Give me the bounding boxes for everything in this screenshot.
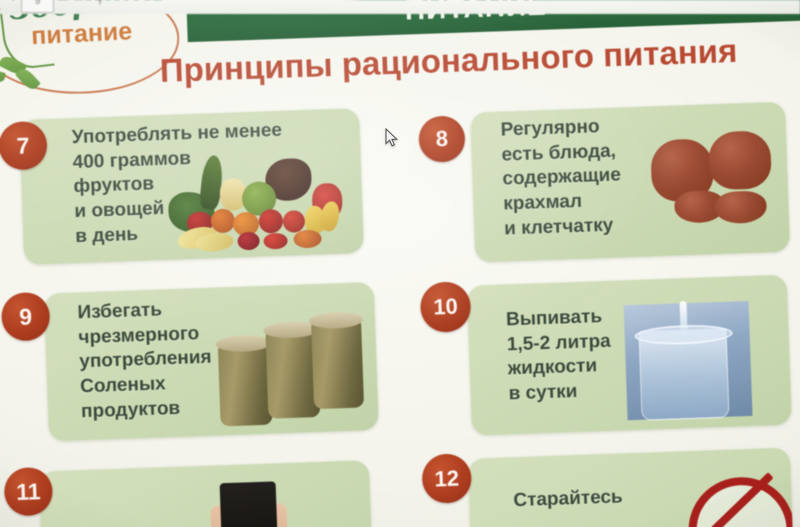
page-total-label: из 32 [60,0,84,3]
projection-screen: ПИТАНИЕ Здоровое питание Принципы рацион… [0,0,800,527]
logo-word-pitanie: питание [31,17,133,51]
card-badge-10: 10 [420,281,472,333]
card-text-8: Регулярно есть блюда, содержащие крахмал… [500,114,623,241]
principle-card-12: Старайтесь [468,448,794,527]
presentation-slide: ПИТАНИЕ Здоровое питание Принципы рацион… [0,0,800,527]
principle-card-9: Избегать чрезмерного употребления Солены… [44,282,379,441]
card-badge-8: 8 [418,115,466,163]
principle-card-7: Употреблять не менее 400 граммов фруктов… [19,108,364,265]
pickle-jars-photo [213,305,369,428]
bread-rolls-photo [646,128,786,249]
card-text-7: Употреблять не менее 400 граммов фруктов… [71,119,285,250]
principle-card-10: Выпивать 1,5-2 литра жидкости в сутки [467,275,792,436]
glass-of-water-photo [624,301,753,420]
search-icon[interactable]: ⚲ [96,0,108,5]
viewer-toolbar: 9 из 32 ⚲ [0,0,800,14]
card-text-10: Выпивать 1,5-2 литра жидкости в сутки [506,305,613,407]
page-title: Принципы рационального питания [159,32,738,90]
prohibition-sign-photo [664,466,793,527]
arrow-cursor [385,128,399,148]
card-badge-9: 9 [1,292,51,342]
person-on-scales-photo [191,460,307,527]
card-text-12: Старайтесь [513,485,623,513]
page-number-input[interactable]: 9 [21,0,54,13]
card-text-9: Избегать чрезмерного употребления Солены… [77,297,214,425]
principle-card-8: Регулярно есть блюда, содержащие крахмал… [470,102,790,263]
principle-card-11 [39,460,373,527]
card-badge-12: 12 [421,453,472,504]
